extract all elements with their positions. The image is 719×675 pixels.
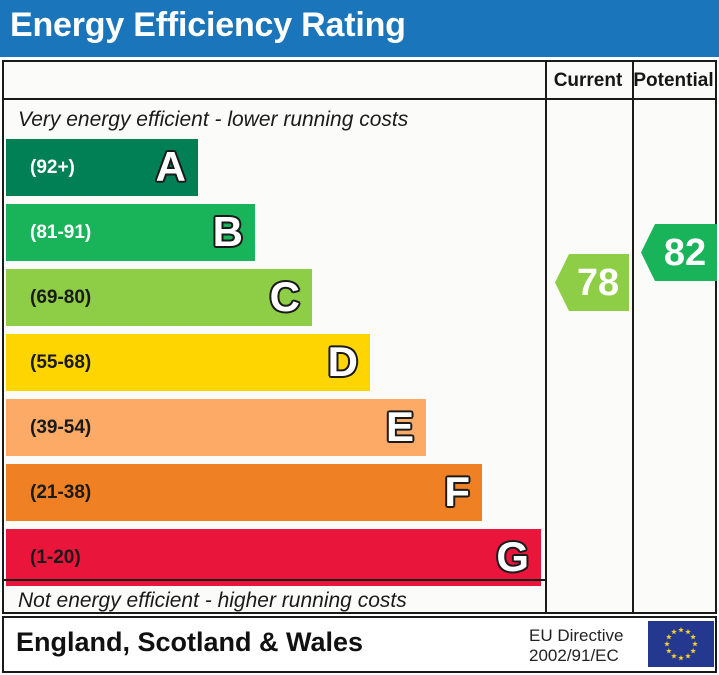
band-bar-d: (55-68)D xyxy=(6,334,370,391)
band-range-c: (69-80) xyxy=(30,269,91,326)
footer-region-label: England, Scotland & Wales xyxy=(16,627,363,658)
potential-rating-badge: 82 xyxy=(641,224,717,281)
band-bar-g: (1-20)G xyxy=(6,529,541,586)
band-bar-b: (81-91)B xyxy=(6,204,255,261)
directive-line-1: EU Directive xyxy=(529,626,623,646)
band-letter-f: F xyxy=(444,464,470,521)
directive-line-2: 2002/91/EC xyxy=(529,646,623,666)
band-letter-d: D xyxy=(328,334,358,391)
current-rating-badge: 78 xyxy=(555,254,629,311)
energy-efficiency-rating-chart: Energy Efficiency Rating Current Potenti… xyxy=(0,0,719,675)
band-bar-c: (69-80)C xyxy=(6,269,312,326)
band-letter-c: C xyxy=(270,269,300,326)
caption-inefficient: Not energy efficient - higher running co… xyxy=(18,589,407,613)
column-header-potential: Potential xyxy=(632,62,715,100)
eu-flag-icon xyxy=(648,621,714,667)
band-letter-g: G xyxy=(496,529,529,586)
band-bar-f: (21-38)F xyxy=(6,464,482,521)
band-bar-e: (39-54)E xyxy=(6,399,426,456)
eu-flag-stars xyxy=(648,621,714,667)
band-bar-a: (92+)A xyxy=(6,139,198,196)
chart-footer: England, Scotland & Wales EU Directive 2… xyxy=(2,616,717,673)
footer-directive-label: EU Directive 2002/91/EC xyxy=(529,626,623,666)
column-header-current: Current xyxy=(545,62,631,100)
band-range-f: (21-38) xyxy=(30,464,91,521)
potential-rating-value: 82 xyxy=(652,234,706,272)
column-header-row: Current Potential xyxy=(4,62,715,100)
current-rating-value: 78 xyxy=(565,264,619,302)
band-range-e: (39-54) xyxy=(30,399,91,456)
band-letter-a: A xyxy=(156,139,186,196)
band-range-a: (92+) xyxy=(30,139,75,196)
caption-efficient: Very energy efficient - lower running co… xyxy=(18,108,408,132)
chart-title-bar: Energy Efficiency Rating xyxy=(0,0,719,57)
column-divider-1 xyxy=(545,62,547,612)
chart-frame: Current Potential Very energy efficient … xyxy=(2,60,717,614)
band-range-b: (81-91) xyxy=(30,204,91,261)
band-letter-b: B xyxy=(213,204,243,261)
band-range-g: (1-20) xyxy=(30,529,81,586)
band-letter-e: E xyxy=(386,399,414,456)
page-title: Energy Efficiency Rating xyxy=(10,6,406,45)
column-divider-2 xyxy=(632,62,634,612)
caption-separator xyxy=(4,579,545,581)
band-range-d: (55-68) xyxy=(30,334,91,391)
